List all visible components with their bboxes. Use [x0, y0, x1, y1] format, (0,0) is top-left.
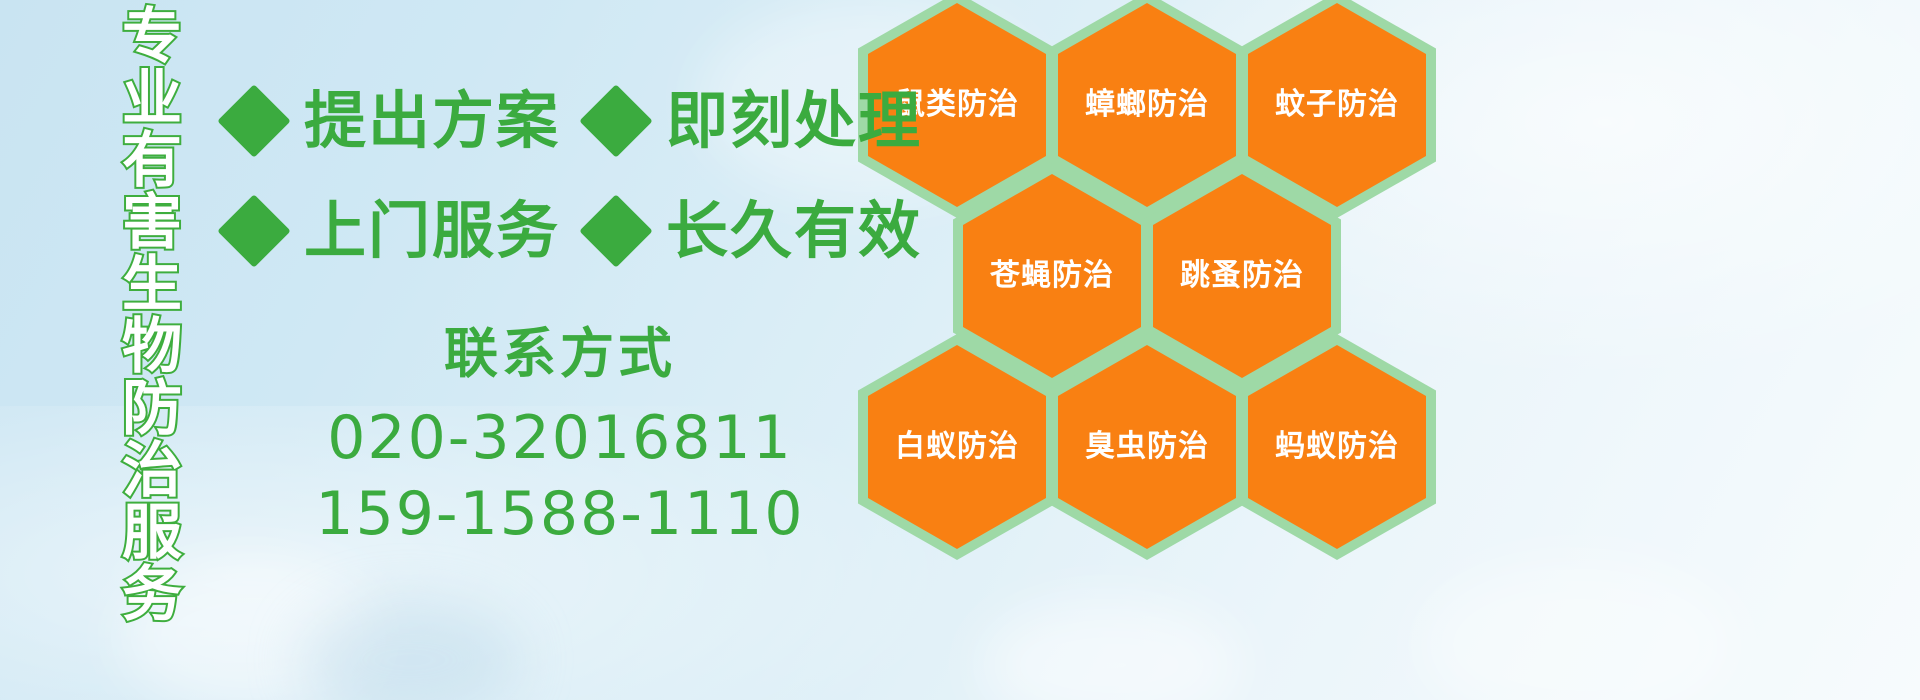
slogan-row-one: 提出方案 即刻处理 — [228, 86, 922, 156]
vertical-headline-char: 专 — [122, 6, 182, 68]
diamond-bullet-icon — [579, 194, 653, 268]
vertical-headline: 专 业 有 害 生 物 防 治 服 务 — [104, 6, 200, 566]
slogan-row-two: 上门服务 长久有效 — [228, 196, 922, 266]
vertical-headline-char: 治 — [122, 440, 182, 502]
vertical-headline-char: 务 — [122, 564, 182, 626]
background-bloom-center — [980, 600, 1240, 700]
hex-fill: 苍蝇防治 — [963, 174, 1141, 378]
service-label: 蟑螂防治 — [1085, 88, 1209, 122]
slogan-proposal: 提出方案 — [304, 86, 560, 156]
hex-fill: 白蚁防治 — [868, 345, 1046, 549]
slogan-long-lasting: 长久有效 — [666, 196, 922, 266]
vertical-headline-char: 害 — [122, 192, 182, 254]
service-label: 蚊子防治 — [1275, 88, 1399, 122]
slogan-immediate-handling: 即刻处理 — [666, 86, 922, 156]
hex-fill: 蚂蚁防治 — [1248, 345, 1426, 549]
service-label: 苍蝇防治 — [990, 259, 1114, 293]
service-label: 臭虫防治 — [1085, 430, 1209, 464]
contact-block: 联系方式 020-32016811 159-1588-1110 — [300, 318, 820, 552]
diamond-bullet-icon — [579, 84, 653, 158]
vertical-headline-char: 服 — [122, 502, 182, 564]
vertical-headline-char: 业 — [122, 68, 182, 130]
hex-fill: 臭虫防治 — [1058, 345, 1236, 549]
hex-fill: 蟑螂防治 — [1058, 3, 1236, 207]
phone-number-mobile[interactable]: 159-1588-1110 — [300, 476, 820, 552]
vertical-headline-char: 防 — [122, 378, 182, 440]
background-bloom-left-two — [300, 600, 520, 700]
service-label: 跳蚤防治 — [1180, 259, 1304, 293]
diamond-bullet-icon — [217, 194, 291, 268]
vertical-headline-char: 有 — [122, 130, 182, 192]
diamond-bullet-icon — [217, 84, 291, 158]
service-honeycomb: 鼠类防治 蟑螂防治 蚊子防治 苍蝇防治 跳蚤防治 白蚁防治 — [858, 0, 1458, 552]
service-label: 蚂蚁防治 — [1275, 430, 1399, 464]
pest-control-banner: 专 业 有 害 生 物 防 治 服 务 提出方案 即刻处理 上门服务 长久有效 … — [0, 0, 1920, 700]
contact-heading: 联系方式 — [300, 318, 820, 390]
vertical-headline-char: 物 — [122, 316, 182, 378]
service-label: 白蚁防治 — [895, 430, 1019, 464]
slogan-onsite-service: 上门服务 — [304, 196, 560, 266]
hex-fill: 跳蚤防治 — [1153, 174, 1331, 378]
background-bloom-right — [1420, 560, 1740, 700]
phone-number-landline[interactable]: 020-32016811 — [300, 400, 820, 476]
hex-fill: 蚊子防治 — [1248, 3, 1426, 207]
vertical-headline-char: 生 — [122, 254, 182, 316]
